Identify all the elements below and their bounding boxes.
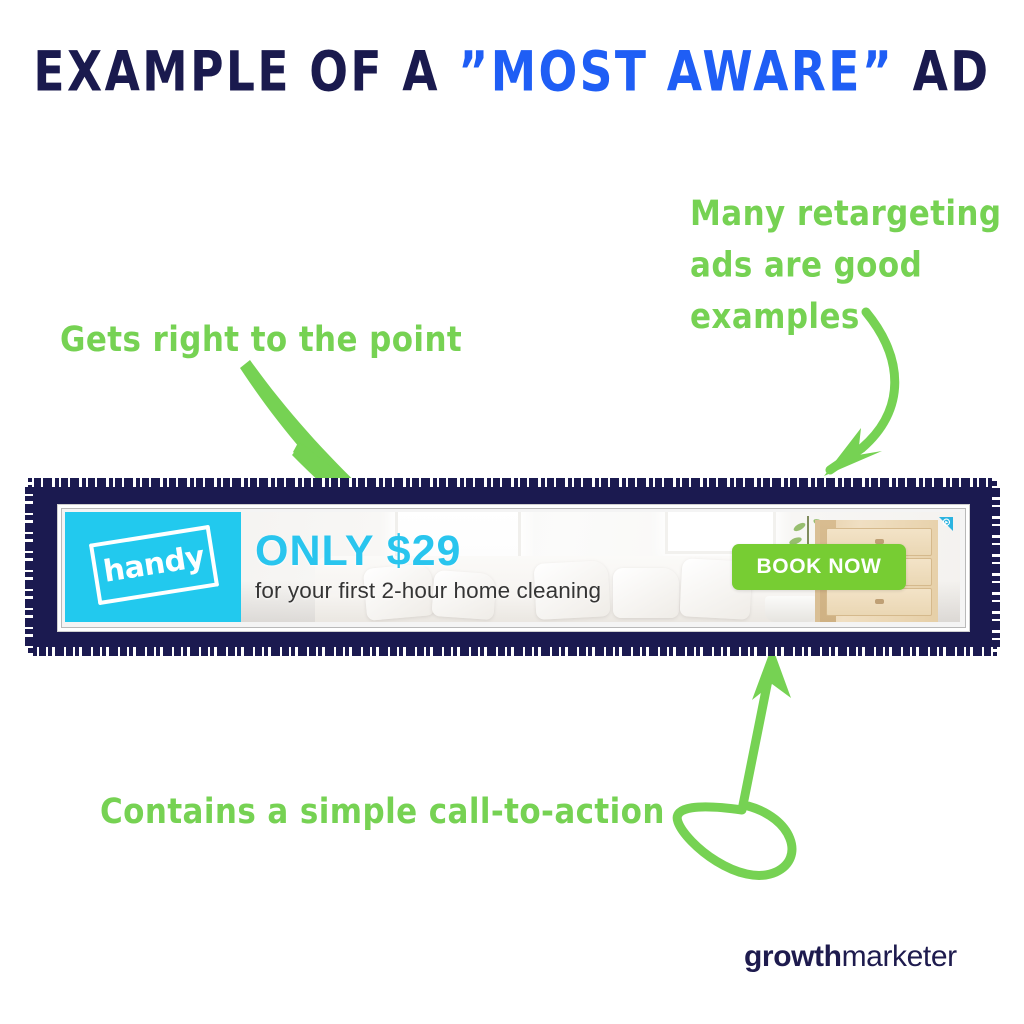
arrow-to-cta-icon [677, 660, 792, 875]
title-part-2: AD [894, 40, 990, 105]
brand-regular: marketer [842, 940, 957, 973]
ad-frame-torn-right [992, 478, 1000, 656]
ad-frame: handy ONLY $29 for your first 2-hour hom… [25, 478, 1000, 656]
handy-logo-mark: handy [89, 525, 219, 605]
handy-wordmark: handy [89, 525, 219, 605]
ad-headline: ONLY $29 [255, 526, 725, 576]
adchoices-triangle-icon[interactable] [938, 516, 954, 532]
ad-copy: ONLY $29 for your first 2-hour home clea… [255, 526, 725, 606]
ad-frame-torn-left [25, 478, 33, 656]
ad-chrome: handy ONLY $29 for your first 2-hour hom… [61, 508, 966, 628]
handy-logo-tile: handy [65, 512, 241, 622]
banner-ad[interactable]: handy ONLY $29 for your first 2-hour hom… [65, 512, 960, 622]
slide-canvas: EXAMPLE OF A ”MOST AWARE” AD Gets right … [0, 0, 1024, 1024]
annotation-gets-right-to-the-point: Gets right to the point [60, 314, 462, 366]
arrow-head-top-right-icon [824, 428, 882, 476]
annotation-many-retargeting-ads: Many retargeting ads are good examples [690, 188, 1002, 343]
title-highlight: ”MOST AWARE” [458, 40, 894, 105]
page-title: EXAMPLE OF A ”MOST AWARE” AD [15, 40, 1008, 105]
title-part-1: EXAMPLE OF A [33, 40, 458, 105]
ad-subheadline: for your first 2-hour home cleaning [255, 576, 725, 606]
plant-pot [765, 596, 817, 622]
annotation-simple-call-to-action: Contains a simple call-to-action [100, 786, 665, 838]
growthmarketer-logo: growthmarketer [744, 940, 957, 974]
book-now-button[interactable]: BOOK NOW [732, 544, 906, 590]
brand-bold: growth [744, 940, 842, 973]
